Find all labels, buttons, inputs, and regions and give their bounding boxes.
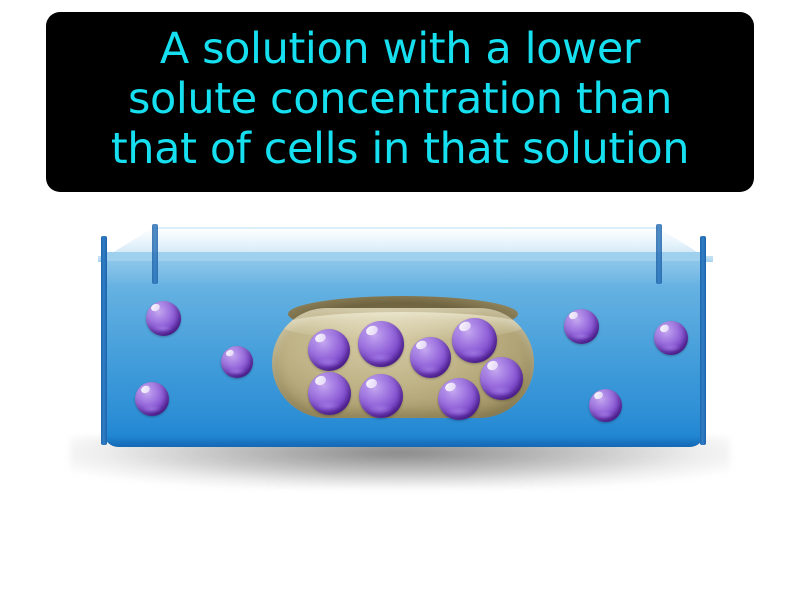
beaker-edge-back-right [656,224,662,284]
solute-particle-inside-2 [358,321,404,367]
definition-banner: A solution with a lower solute concentra… [46,12,754,192]
solute-particle-inside-5 [308,372,351,415]
solute-particle-inside-8 [480,357,523,400]
beaker-edge-front-left [101,236,107,445]
solute-particle-inside-4 [452,318,497,363]
solute-particle-outside-4 [564,309,599,344]
definition-card: A solution with a lower solute concentra… [0,0,800,600]
definition-text: A solution with a lower solute concentra… [111,25,689,175]
solute-particle-inside-1 [308,329,350,371]
solute-particle-inside-6 [359,374,403,418]
beaker-edge-front-right [700,236,706,445]
solute-particle-inside-7 [438,378,480,420]
beaker-edge-back-left [152,224,158,284]
solute-particle-outside-1 [146,301,181,336]
solute-particle-outside-2 [221,346,253,378]
solute-particle-inside-3 [410,337,451,378]
solute-particle-outside-5 [654,321,688,355]
solute-particle-outside-3 [135,382,169,416]
solute-particle-outside-6 [589,389,622,422]
hypotonic-solution-diagram [0,198,800,538]
